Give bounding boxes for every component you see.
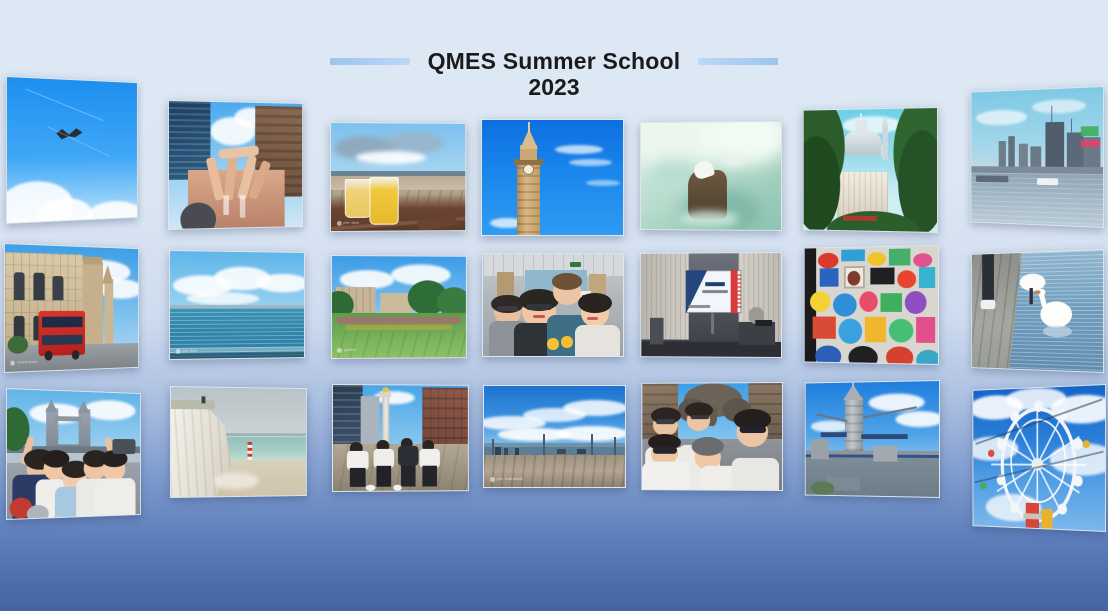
- title-rule-left-icon: [330, 58, 410, 65]
- photo-scene-lecture-room: [641, 253, 781, 357]
- photo-scene-big-ben: [482, 120, 623, 235]
- gallery-photo[interactable]: [971, 249, 1104, 373]
- photo-watermark: oxford street: [11, 360, 37, 366]
- gallery-photo[interactable]: pier view: [330, 122, 466, 232]
- gallery-photo[interactable]: [804, 245, 939, 365]
- photo-scene-white-cliffs: [171, 387, 306, 497]
- beach-marker-icon: [248, 442, 252, 459]
- photo-scene-street-art: [805, 246, 938, 364]
- photo-watermark: pier boardwalk: [490, 477, 523, 482]
- gallery-photo[interactable]: [170, 386, 307, 498]
- photo-scene-street-selfie: [642, 383, 782, 490]
- page-title: QMES Summer School: [428, 48, 681, 75]
- photo-scene-thames-skyline: [971, 87, 1103, 227]
- gallery-photo[interactable]: garden: [331, 255, 467, 359]
- photo-scene-ferris-wheel: [973, 385, 1105, 531]
- gallery-photo[interactable]: [973, 384, 1106, 532]
- gallery-photo[interactable]: [641, 382, 783, 491]
- photo-scene-swans: [972, 250, 1103, 372]
- monument-column-icon: [382, 396, 389, 444]
- gallery-photo[interactable]: [803, 107, 938, 233]
- gallery-photo[interactable]: [482, 253, 624, 357]
- gallery-photo[interactable]: [971, 86, 1104, 228]
- photo-scene-st-pauls: [804, 108, 937, 232]
- photo-scene-seascape: sea view: [170, 251, 304, 359]
- photo-scene-beer-pier: pier view: [331, 123, 465, 231]
- gallery-photo[interactable]: oxford street: [4, 243, 139, 373]
- photo-scene-toast-hands: [169, 101, 302, 229]
- gallery-photo[interactable]: [640, 121, 782, 231]
- photo-scene-group-tower-bridge: [7, 389, 140, 519]
- gallery-photo[interactable]: [805, 380, 940, 498]
- photo-scene-tower-bridge: [806, 381, 939, 497]
- title-year: 2023: [528, 74, 579, 101]
- photo-scene-monument-pose: [333, 385, 468, 491]
- photo-scene-pier-boardwalk: pier boardwalk: [484, 386, 625, 487]
- gallery-photo[interactable]: [168, 100, 303, 230]
- photo-scene-college-garden: garden: [332, 256, 466, 358]
- title-rule-right-icon: [698, 58, 778, 65]
- photo-scene-oxford-bus: oxford street: [5, 244, 138, 372]
- photo-watermark: pier view: [336, 220, 359, 225]
- slide-title-block: QMES Summer School 2023: [0, 48, 1108, 101]
- photo-scene-selfie-indoor: [483, 254, 623, 356]
- gallery-photo[interactable]: [332, 384, 469, 492]
- title-row: QMES Summer School: [330, 48, 779, 75]
- gallery-photo[interactable]: [640, 252, 782, 358]
- gallery-photo[interactable]: sea view: [169, 250, 305, 360]
- gallery-photo[interactable]: [6, 388, 141, 520]
- photo-watermark: sea view: [176, 348, 198, 353]
- gallery-photo[interactable]: pier boardwalk: [483, 385, 626, 488]
- dome-icon: [844, 129, 881, 156]
- photo-scene-sea-rock: [641, 122, 781, 230]
- photo-watermark: garden: [337, 348, 356, 353]
- gallery-photo[interactable]: [481, 119, 624, 236]
